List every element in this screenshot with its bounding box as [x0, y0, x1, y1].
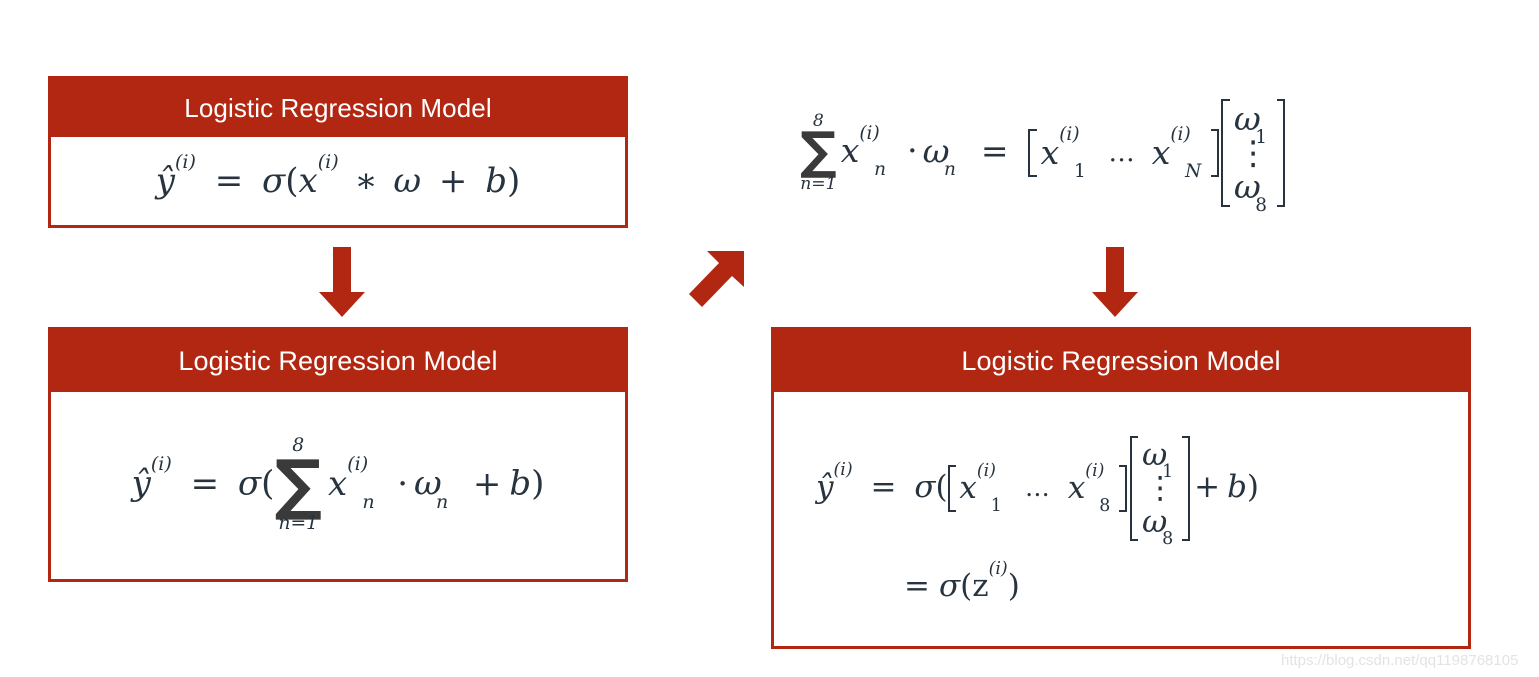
eq2-omega-subscript-n: n: [436, 491, 448, 513]
card-top-left: Logistic Regression Model ŷ(i) = σ(x(i) …: [48, 76, 628, 228]
card-title-top-left: Logistic Regression Model: [51, 79, 625, 137]
eq1-omega: ω: [393, 161, 421, 201]
column-vector-cell-last: ω8: [1142, 506, 1178, 539]
eq2-b: b: [509, 464, 531, 504]
eq2-x: x: [328, 464, 347, 504]
column-vector-omega: ω1 ⋮ ω8: [1221, 99, 1285, 208]
eq1-superscript-i: (i): [175, 151, 196, 173]
eq2-superscript-i: (i): [151, 453, 172, 475]
eq3b-paren-close: ): [1008, 568, 1020, 604]
equation-bottom-right-line2: =σ(z(i)): [904, 571, 1020, 602]
eq3b-z: z: [972, 568, 988, 604]
card-body-top-left: ŷ(i) = σ(x(i) ∗ ω + b): [51, 137, 625, 225]
row-vector-cell-last: x(i)N: [1152, 136, 1207, 171]
column-vector-omega-bottom: ω1 ⋮ ω8: [1130, 436, 1190, 541]
eq3b-equals: =: [904, 568, 930, 604]
card-body-bottom-right: ŷ(i) = σ( x(i)1 … x(i)8 ω1 ⋮ ω8 +b): [774, 392, 1468, 646]
eq3-superscript-i: (i): [834, 460, 853, 480]
card-bottom-left: Logistic Regression Model ŷ(i) = σ( 8 ∑ …: [48, 327, 628, 582]
eq2-equals: =: [191, 464, 220, 504]
eq1-x: x: [299, 161, 318, 201]
arrow-up-right-icon: [682, 243, 762, 325]
eqtr-omega-subscript-n: n: [944, 159, 956, 180]
arrow-down-icon: [312, 247, 372, 319]
eq3-paren-open: (: [936, 469, 948, 505]
eq1-paren-close: ): [507, 161, 520, 201]
equation-top-left: ŷ(i) = σ(x(i) ∗ ω + b): [156, 164, 521, 198]
row-vector-ellipsis: …: [1108, 140, 1134, 166]
eq2-dot: ·: [397, 464, 408, 504]
eq2-plus: +: [473, 464, 502, 504]
column-vector-cell-last: ω8: [1234, 170, 1273, 205]
eq3-b: b: [1227, 469, 1247, 505]
eq3-sigma: σ: [914, 469, 935, 505]
column-vector-left-bracket: [1221, 99, 1230, 208]
row-vector-cells: x(i)1 … x(i)8: [956, 465, 1120, 512]
arrow-down-left: [312, 247, 372, 319]
arrow-down-right: [1085, 247, 1145, 319]
eq3-plus: +: [1194, 469, 1220, 505]
eq1-equals: =: [215, 161, 244, 201]
row-vector-cell-last: x(i)8: [1068, 472, 1116, 505]
watermark-url: https://blog.csdn.net/qq1198768105: [1281, 652, 1518, 669]
eq1-yhat: ŷ: [156, 161, 175, 201]
row-vector-x-bottom: x(i)1 … x(i)8: [948, 465, 1128, 512]
eqtr-x-subscript-n: n: [874, 159, 886, 180]
eq3b-paren-open: (: [960, 568, 972, 604]
column-vector-right-bracket: [1182, 436, 1190, 541]
eqtr-x: x: [841, 131, 860, 170]
card-title-bottom-right: Logistic Regression Model: [774, 330, 1468, 392]
column-vector-right-bracket: [1277, 99, 1286, 208]
eq1-asterisk: ∗: [354, 161, 377, 201]
row-vector-right-bracket: [1119, 465, 1127, 512]
equation-bottom-right-line1: ŷ(i) = σ( x(i)1 … x(i)8 ω1 ⋮ ω8 +b): [816, 436, 1259, 541]
eq3-equals: =: [870, 469, 896, 505]
eq2-x-subscript-n: n: [362, 491, 374, 513]
eqtr-x-superscript-i: (i): [859, 123, 879, 144]
row-vector-x: x(i)1 … x(i)N: [1028, 129, 1219, 177]
eq3b-superscript-i: (i): [989, 559, 1008, 579]
eq3-paren-close: ): [1247, 469, 1259, 505]
summation-symbol-top-right: 8 ∑ n=1: [800, 113, 837, 193]
row-vector-ellipsis: …: [1025, 476, 1050, 501]
sum-lower-limit: n=1: [800, 176, 837, 193]
row-vector-cell-first: x(i)1: [959, 472, 1007, 505]
eq2-paren-close: ): [531, 464, 544, 504]
column-vector-cells: ω1 ⋮ ω8: [1230, 99, 1277, 208]
card-title-bottom-left: Logistic Regression Model: [51, 330, 625, 392]
column-vector-cells: ω1 ⋮ ω8: [1138, 436, 1182, 541]
eqtr-dot: ·: [907, 131, 918, 170]
row-vector-cells: x(i)1 … x(i)N: [1037, 129, 1211, 177]
row-vector-left-bracket: [948, 465, 956, 512]
eq2-paren-open: (: [261, 464, 274, 504]
arrow-down-icon: [1085, 247, 1145, 319]
eq1-b: b: [485, 161, 507, 201]
sigma-summation-icon: ∑: [800, 129, 837, 175]
eq1-sigma: σ: [262, 161, 285, 201]
eq2-sigma: σ: [238, 464, 261, 504]
row-vector-right-bracket: [1211, 129, 1220, 177]
equation-top-right: 8 ∑ n=1 x(i)n ·ωn = x(i)1 … x(i)N ω1 ⋮ ω…: [800, 99, 1285, 208]
eq3-yhat: ŷ: [816, 469, 834, 505]
summation-symbol-bottom-left: 8 ∑ n=1: [274, 437, 322, 534]
equation-top-right-wrapper: 8 ∑ n=1 x(i)n ·ωn = x(i)1 … x(i)N ω1 ⋮ ω…: [800, 78, 1450, 228]
card-bottom-right: Logistic Regression Model ŷ(i) = σ( x(i)…: [771, 327, 1471, 649]
column-vector-left-bracket: [1130, 436, 1138, 541]
eq1-plus: +: [439, 161, 468, 201]
sum-lower-limit: n=1: [274, 515, 322, 534]
eq2-x-superscript-i: (i): [347, 453, 368, 475]
row-vector-cell-first: x(i)1: [1041, 136, 1092, 171]
eqtr-equals: =: [981, 131, 1009, 170]
column-vector-cell-first: ω1: [1234, 102, 1273, 137]
sigma-summation-icon: ∑: [274, 455, 322, 515]
eq2-yhat: ŷ: [132, 464, 151, 504]
equation-bottom-left: ŷ(i) = σ( 8 ∑ n=1 x(i)n ·ωn +b): [132, 437, 545, 534]
row-vector-left-bracket: [1028, 129, 1037, 177]
eq3b-sigma: σ: [939, 568, 960, 604]
arrow-up-right: [682, 243, 762, 325]
eq1-paren-open: (: [285, 161, 298, 201]
eq1-x-superscript-i: (i): [318, 151, 339, 173]
column-vector-cell-first: ω1: [1142, 439, 1178, 472]
card-body-bottom-left: ŷ(i) = σ( 8 ∑ n=1 x(i)n ·ωn +b): [51, 392, 625, 579]
